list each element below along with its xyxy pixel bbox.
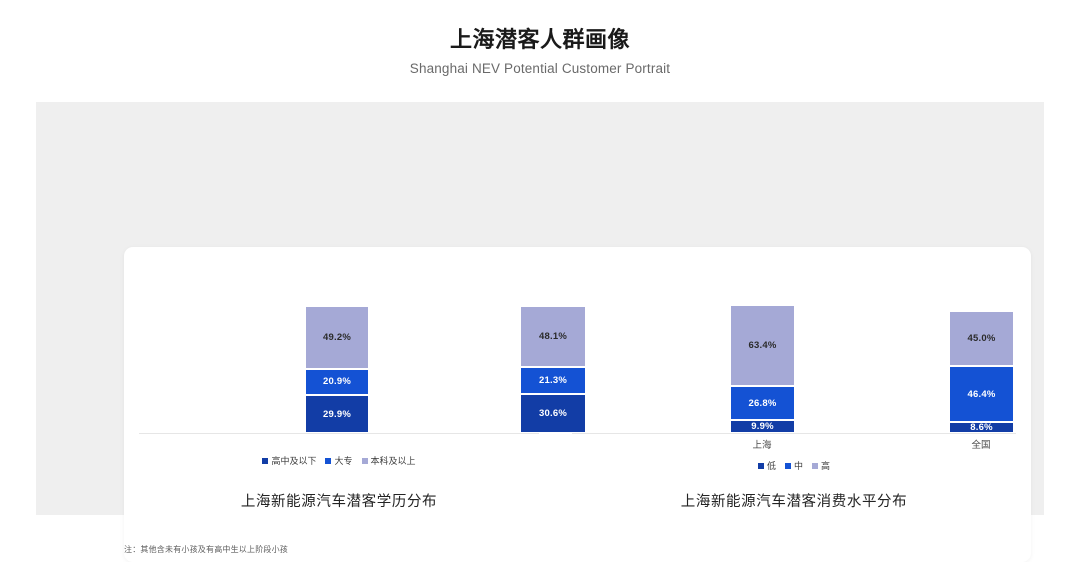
plot-area-education: 49.2% 20.9% 29.9% 48.1% 21.3% 30.6% [139, 247, 539, 433]
bar-segment-mid: 26.8% [730, 386, 795, 420]
chart-caption-education: 上海新能源汽车潜客学历分布 [139, 490, 539, 511]
legend-item-mid[interactable]: 中 [785, 459, 803, 472]
chart-caption-consumption: 上海新能源汽车潜客消费水平分布 [572, 490, 1016, 511]
bar-segment-low: 9.9% [730, 420, 795, 433]
legend-swatch-icon [758, 463, 764, 469]
bar-consumption-national[interactable]: 45.0% 46.4% 8.6% [949, 311, 1014, 433]
charts-card: 49.2% 20.9% 29.9% 48.1% 21.3% 30.6% 高中及以… [124, 247, 1031, 562]
bar-segment-mid: 46.4% [949, 366, 1014, 422]
legend-label: 低 [767, 459, 776, 472]
legend-label: 本科及以上 [371, 454, 416, 467]
legend-swatch-icon [812, 463, 818, 469]
legend-swatch-icon [362, 458, 368, 464]
page-header: 上海潜客人群画像 Shanghai NEV Potential Customer… [0, 0, 1080, 76]
bar-segment-low: 8.6% [949, 422, 1014, 433]
legend-education: 高中及以下 大专 本科及以上 [139, 454, 539, 467]
bar-segment-low: 29.9% [305, 395, 369, 433]
slide-panel: 49.2% 20.9% 29.9% 48.1% 21.3% 30.6% 高中及以… [36, 102, 1044, 515]
footnote: 注：其他含未有小孩及有高中生以上阶段小孩 [124, 544, 288, 555]
axis-line-education [139, 433, 539, 434]
legend-label: 高中及以下 [271, 454, 316, 467]
bar-consumption-shanghai[interactable]: 63.4% 26.8% 9.9% [730, 305, 795, 433]
category-label-national: 全国 [971, 437, 990, 451]
legend-swatch-icon [262, 458, 268, 464]
legend-item-low[interactable]: 低 [758, 459, 776, 472]
chart-consumption-distribution: 63.4% 26.8% 9.9% 45.0% 46.4% 8.6% 上海 全国 … [572, 247, 1016, 562]
legend-item-high[interactable]: 高 [812, 459, 830, 472]
bar-education-1[interactable]: 49.2% 20.9% 29.9% [305, 306, 369, 433]
bar-segment-high: 63.4% [730, 305, 795, 386]
chart-education-distribution: 49.2% 20.9% 29.9% 48.1% 21.3% 30.6% 高中及以… [139, 247, 539, 562]
page-title: 上海潜客人群画像 [0, 0, 1080, 54]
legend-consumption: 低 中 高 [572, 459, 1016, 472]
bar-segment-high: 45.0% [949, 311, 1014, 366]
legend-item-low[interactable]: 高中及以下 [262, 454, 316, 467]
legend-swatch-icon [785, 463, 791, 469]
legend-item-high[interactable]: 本科及以上 [362, 454, 416, 467]
legend-label: 大专 [334, 454, 352, 467]
plot-area-consumption: 63.4% 26.8% 9.9% 45.0% 46.4% 8.6% [572, 247, 1016, 433]
page-subtitle: Shanghai NEV Potential Customer Portrait [0, 54, 1080, 76]
legend-swatch-icon [325, 458, 331, 464]
legend-label: 高 [821, 459, 830, 472]
legend-item-mid[interactable]: 大专 [325, 454, 352, 467]
category-label-shanghai: 上海 [752, 437, 771, 451]
bar-segment-high: 49.2% [305, 306, 369, 369]
bar-segment-mid: 20.9% [305, 369, 369, 396]
axis-line-consumption [572, 433, 1016, 434]
legend-label: 中 [794, 459, 803, 472]
